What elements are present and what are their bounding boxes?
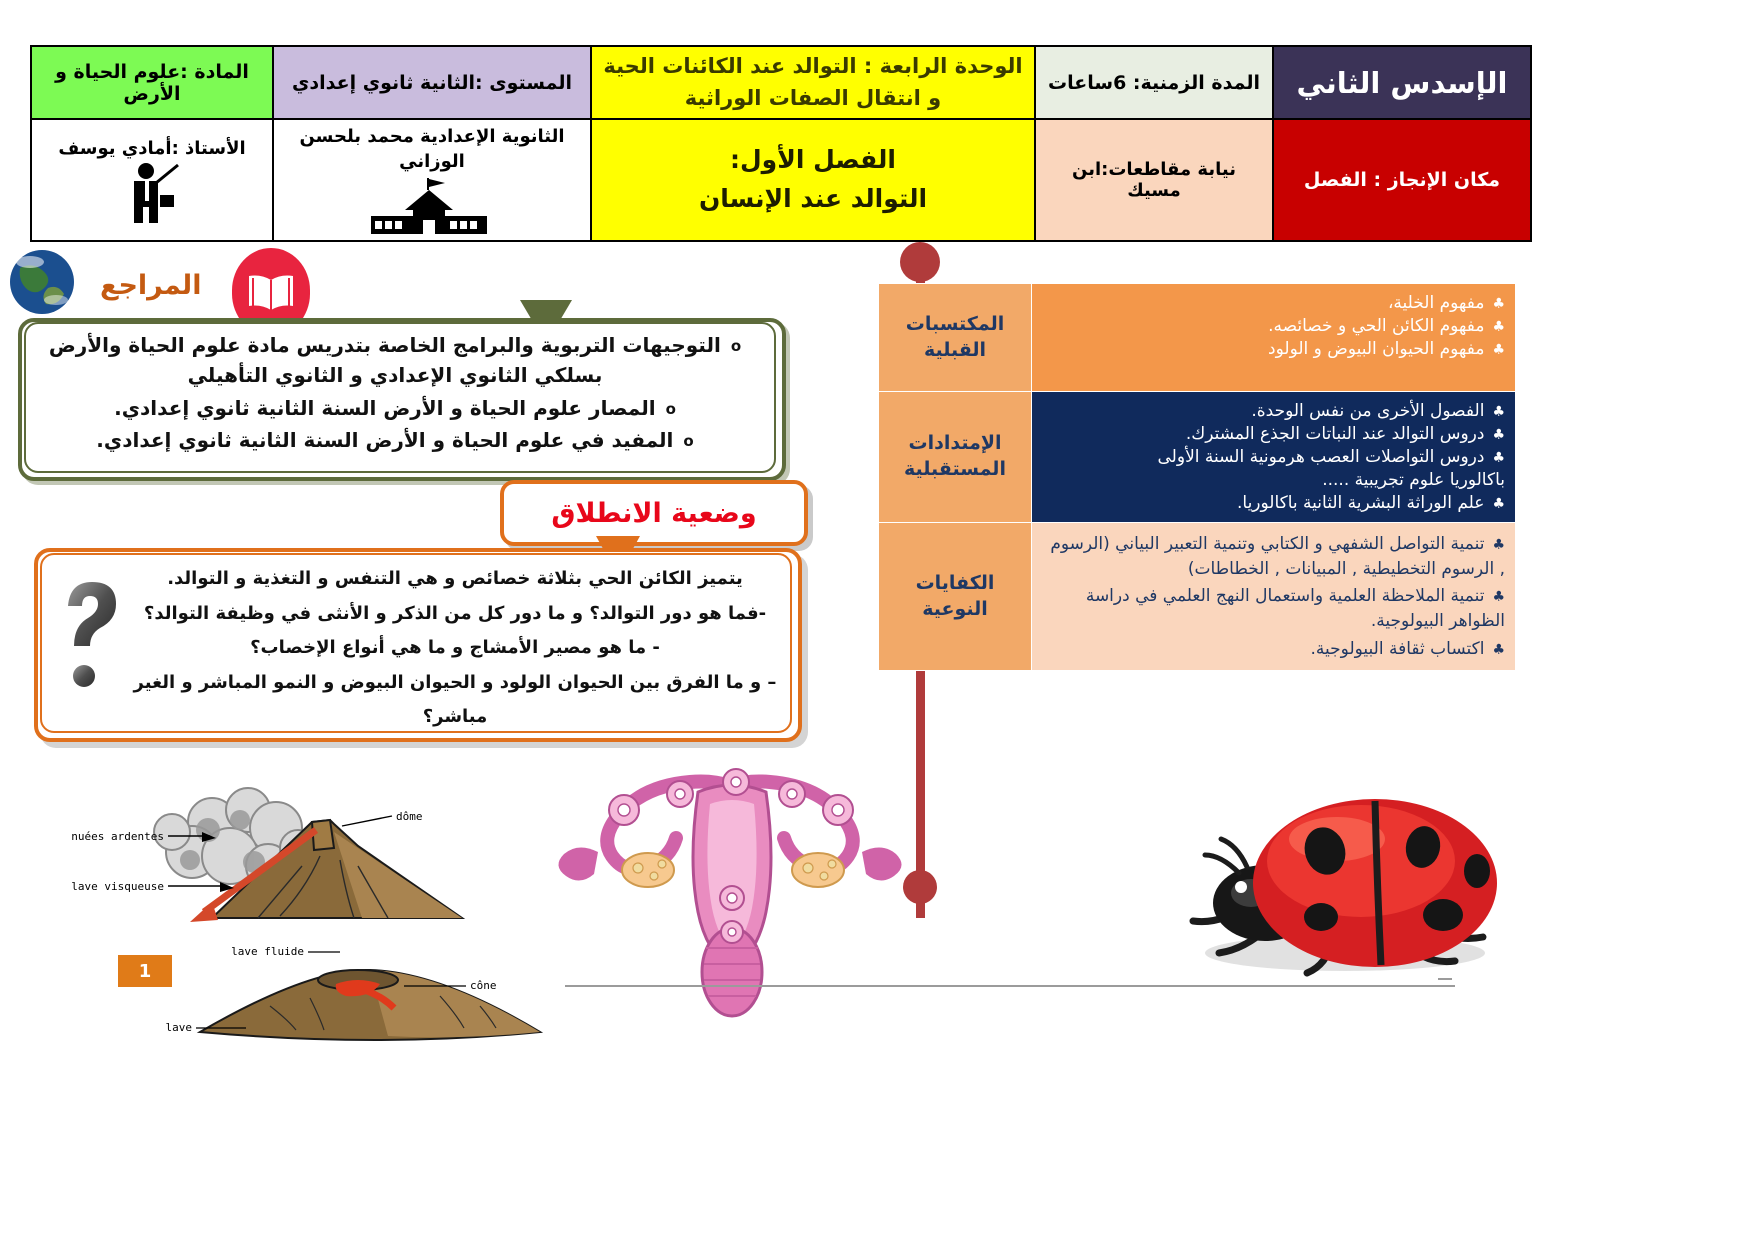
- bullet-icon: o: [666, 398, 676, 421]
- list-item: oالمصار علوم الحياة و الأرض السنة الثاني…: [30, 393, 760, 423]
- club-bullet-icon: ♣: [1492, 587, 1505, 607]
- page-number-badge: 1: [118, 955, 172, 987]
- future-extensions-label: الإمتدادات المستقبلية: [879, 392, 1032, 523]
- club-bullet-icon: ♣: [1492, 640, 1505, 660]
- specific-competencies-label: الكفايات النوعية: [879, 523, 1032, 671]
- teacher-pointer-icon: [112, 161, 192, 223]
- school-cell: الثانوية الإعدادية محمد بلحسن الوزاني: [273, 119, 591, 241]
- header-row-1: الإسدس الثاني المدة الزمنية: 6ساعات الوح…: [31, 46, 1531, 119]
- duration-cell: المدة الزمنية: 6ساعات: [1035, 46, 1273, 119]
- svg-text:lave visqueuse: lave visqueuse: [71, 880, 164, 893]
- table-row: ♣مفهوم الخلية، ♣مفهوم الكائن الحي و خصائ…: [879, 284, 1516, 392]
- delegation-cell: نيابة مقاطعات:ابن مسيك: [1035, 119, 1273, 241]
- svg-text:nuées ardentes: nuées ardentes: [71, 830, 164, 843]
- ladybug-photo: [1155, 775, 1525, 980]
- place-cell: مكان الإنجاز : الفصل: [1273, 119, 1531, 241]
- semester-cell: الإسدس الثاني: [1273, 46, 1531, 119]
- list-item: oالتوجيهات التربوية والبرامج الخاصة بتدر…: [30, 330, 760, 391]
- list-item: ♣دروس التواصلات العصب هرمونية السنة الأو…: [1042, 447, 1505, 467]
- list-item: ♣اكتساب ثقافة البيولوجية.: [1042, 637, 1505, 662]
- club-bullet-icon: ♣: [1492, 535, 1505, 555]
- table-row: ♣الفصول الأخرى من نفس الوحدة. ♣دروس التو…: [879, 392, 1516, 523]
- club-bullet-icon: ♣: [1492, 296, 1505, 312]
- female-reproductive-system-diagram: [520, 720, 940, 1040]
- list-item: ♣علم الوراثة البشرية الثانية باكالوريا.: [1042, 493, 1505, 513]
- references-label: المراجع: [100, 270, 201, 301]
- list-item: ♣تنمية الملاحظة العلمية واستعمال النهج ا…: [1042, 584, 1505, 633]
- prior-knowledge-label: المكتسبات القبلية: [879, 284, 1032, 392]
- list-item: ♣تنمية التواصل الشفهي و الكتابي وتنمية ا…: [1042, 532, 1505, 581]
- dome-volcano-diagram: dôme nuées ardentes lave visqueuse: [62, 770, 482, 930]
- situation-badge-label: وضعية الانطلاق: [551, 498, 756, 529]
- earth-globe-icon: [8, 248, 76, 316]
- level-cell: المستوى :الثانية ثانوي إعدادي: [273, 46, 591, 119]
- future-extensions-cell: ♣الفصول الأخرى من نفس الوحدة. ♣دروس التو…: [1032, 392, 1516, 523]
- chapter-cell: الفصل الأول: التوالد عند الإنسان: [591, 119, 1035, 241]
- question-mark-icon: [46, 572, 138, 692]
- list-item: باكالوريا علوم تجريبية .....: [1042, 470, 1505, 490]
- header-row-2: مكان الإنجاز : الفصل نيابة مقاطعات:ابن م…: [31, 119, 1531, 241]
- prior-knowledge-cell: ♣مفهوم الخلية، ♣مفهوم الكائن الحي و خصائ…: [1032, 284, 1516, 392]
- svg-text:cône: cône: [470, 979, 497, 992]
- figure-baseline-tick: [1438, 978, 1452, 980]
- bullet-icon: o: [731, 335, 741, 358]
- subject-cell: المادة :علوم الحياة و الأرض: [31, 46, 273, 119]
- list-item: ♣مفهوم الخلية،: [1042, 293, 1505, 313]
- list-item-spacer: [1042, 362, 1505, 382]
- club-bullet-icon: ♣: [1492, 496, 1505, 512]
- list-item: ♣دروس التوالد عند النباتات الجذع المشترك…: [1042, 424, 1505, 444]
- situation-badge: وضعية الانطلاق: [500, 480, 808, 546]
- situation-line: - ما هو مصير الأمشاج و ما هي أنواع الإخص…: [130, 631, 780, 666]
- situation-text: يتميز الكائن الحي بثلاثة خصائص و هي التن…: [130, 562, 780, 735]
- situation-line: -فما هو دور التوالد؟ و ما دور كل من الذك…: [130, 597, 780, 632]
- teacher-cell: الأستاذ :أمادي يوسف: [31, 119, 273, 241]
- club-bullet-icon: ♣: [1492, 450, 1505, 466]
- shield-volcano-diagram: lave fluide cône coulée de lave: [160, 940, 560, 1050]
- chapter-line-2: التوالد عند الإنسان: [600, 180, 1026, 219]
- table-row: ♣تنمية التواصل الشفهي و الكتابي وتنمية ا…: [879, 523, 1516, 671]
- list-item: ♣مفهوم الحيوان البيوض و الولود: [1042, 339, 1505, 359]
- svg-text:lave fluide: lave fluide: [231, 945, 304, 958]
- club-bullet-icon: ♣: [1492, 427, 1505, 443]
- list-item: ♣الفصول الأخرى من نفس الوحدة.: [1042, 401, 1505, 421]
- bullet-icon: o: [683, 430, 693, 453]
- chapter-line-1: الفصل الأول:: [600, 141, 1026, 180]
- svg-text:dôme: dôme: [396, 810, 423, 823]
- teacher-name: الأستاذ :أمادي يوسف: [58, 138, 245, 159]
- school-building-icon: [357, 176, 507, 236]
- figure-baseline-rule: [565, 985, 1455, 987]
- list-item: oالمفيد في علوم الحياة و الأرض السنة الث…: [30, 425, 760, 455]
- svg-text:coulée de lave: coulée de lave: [160, 1021, 192, 1034]
- club-bullet-icon: ♣: [1492, 319, 1505, 335]
- lesson-header-table: الإسدس الثاني المدة الزمنية: 6ساعات الوح…: [30, 45, 1532, 242]
- list-item: ♣مفهوم الكائن الحي و خصائصه.: [1042, 316, 1505, 336]
- school-name: الثانوية الإعدادية محمد بلحسن الوزاني: [282, 124, 582, 174]
- club-bullet-icon: ♣: [1492, 404, 1505, 420]
- competencies-table: ♣مفهوم الخلية، ♣مفهوم الكائن الحي و خصائ…: [878, 283, 1516, 671]
- club-bullet-icon: ♣: [1492, 342, 1505, 358]
- unit-cell: الوحدة الرابعة : التوالد عند الكائنات ال…: [591, 46, 1035, 119]
- references-list: oالتوجيهات التربوية والبرامج الخاصة بتدر…: [30, 330, 760, 458]
- situation-line: يتميز الكائن الحي بثلاثة خصائص و هي التن…: [130, 562, 780, 597]
- specific-competencies-cell: ♣تنمية التواصل الشفهي و الكتابي وتنمية ا…: [1032, 523, 1516, 671]
